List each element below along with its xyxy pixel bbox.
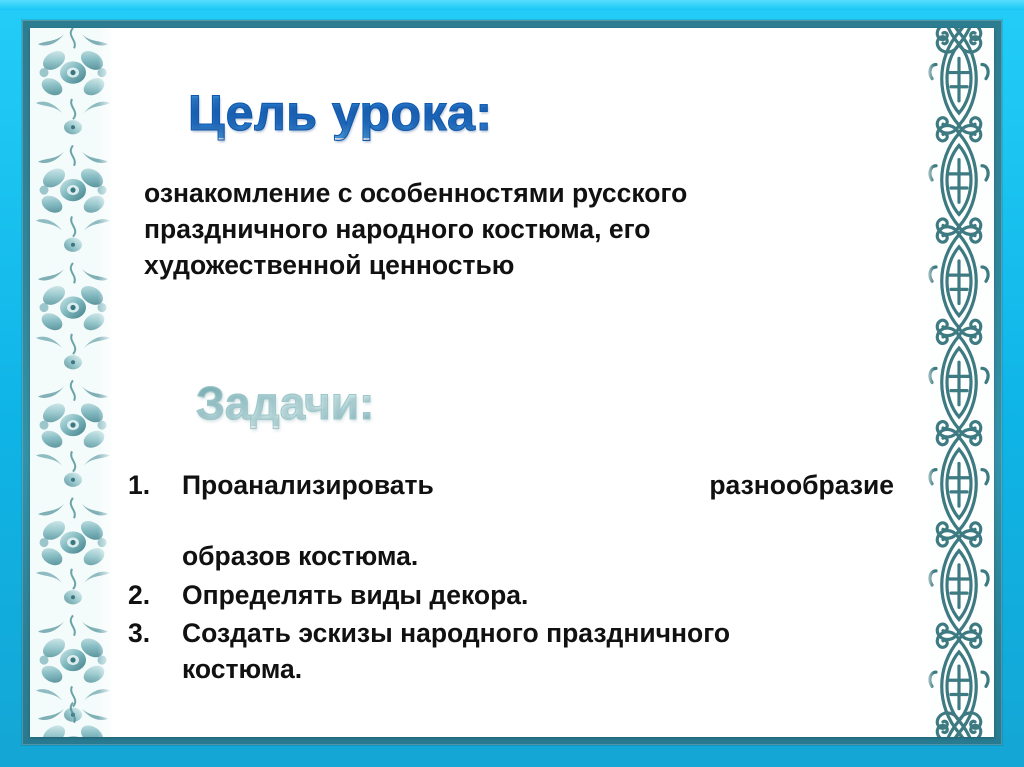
- goal-paragraph: ознакомление с особенностями русского пр…: [144, 176, 866, 284]
- gzhel-floral-icon: [30, 28, 116, 737]
- tasks-list: 1. Проанализировать разнообразие образов…: [124, 468, 894, 690]
- task-body-2: Определять виды декора.: [182, 578, 894, 614]
- task-item-3: 3. Создать эскизы народного праздничного…: [124, 616, 894, 687]
- task-number-2: 2.: [128, 578, 174, 614]
- task-body-3: Создать эскизы народного праздничного ко…: [182, 616, 894, 687]
- task-line-3a: Создать эскизы народного праздничного: [182, 616, 894, 652]
- goal-line-2: праздничного народного костюма, его: [144, 212, 866, 248]
- goal-heading: Цель урока:: [188, 88, 493, 138]
- task-line-1a: Проанализировать разнообразие: [182, 468, 894, 539]
- task-number-3: 3.: [128, 616, 174, 652]
- presentation-slide: Цель урока: ознакомление с особенностями…: [0, 0, 1024, 767]
- goal-line-3: художественной ценностью: [144, 248, 866, 284]
- task-item-1: 1. Проанализировать разнообразие образов…: [124, 468, 894, 575]
- task-body-1: Проанализировать разнообразие образов ко…: [182, 468, 894, 575]
- slide-content-card: Цель урока: ознакомление с особенностями…: [30, 28, 994, 737]
- scrollwork-ornament-icon: [924, 28, 994, 737]
- task-line-1b: образов костюма.: [182, 539, 894, 575]
- task-line-2a: Определять виды декора.: [182, 578, 894, 614]
- scrollwork-border-right: [924, 28, 994, 737]
- goal-line-1: ознакомление с особенностями русского: [144, 176, 866, 212]
- task-item-2: 2. Определять виды декора.: [124, 578, 894, 614]
- task-line-3b: костюма.: [182, 652, 894, 688]
- task-number-1: 1.: [128, 468, 174, 504]
- tasks-heading: Задачи:: [196, 380, 374, 426]
- slide-body: Цель урока: ознакомление с особенностями…: [116, 28, 924, 737]
- gzhel-floral-border-left: [30, 28, 116, 737]
